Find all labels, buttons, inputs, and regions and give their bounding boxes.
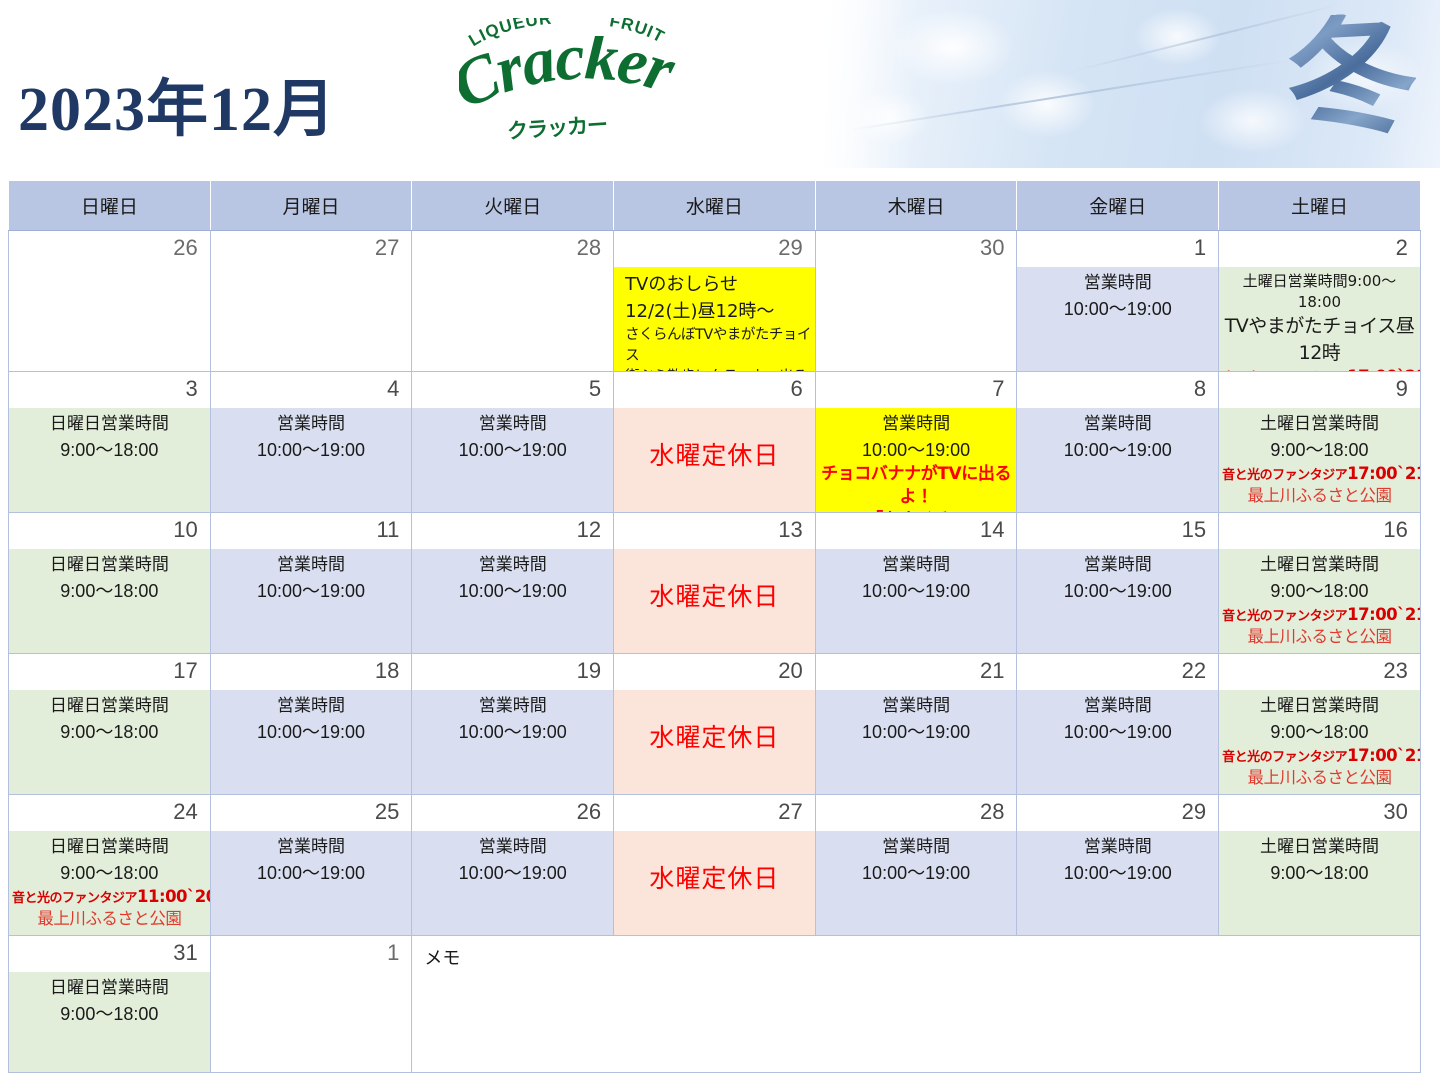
business-hours-value: 10:00～19:00 <box>1020 860 1215 886</box>
day-cell-inner: 25営業時間10:00～19:00 <box>211 795 412 935</box>
day-content: 営業時間10:00～19:00 <box>211 690 412 794</box>
day-content: 土曜日営業時間9:00～18:00音と光のファンタジア17:00ˋ21:00最上… <box>1219 549 1420 653</box>
day-cell-inner: 12営業時間10:00～19:00 <box>412 513 613 653</box>
fantasia-event-time: 17:00ˋ21:00 <box>1347 367 1420 371</box>
day-content: 営業時間10:00～19:00 <box>1017 267 1218 371</box>
calendar-week-row: 3日曜日営業時間9:00～18:004営業時間10:00～19:005営業時間1… <box>9 372 1421 513</box>
day-cell-inner: 7営業時間10:00～19:00チョコバナナがTVに出るよ！NHK「あさイチ」8… <box>816 372 1017 512</box>
day-number: 31 <box>9 936 210 972</box>
closed-day-label: 水曜定休日 <box>617 863 812 896</box>
day-number: 29 <box>614 231 815 267</box>
day-number: 28 <box>816 795 1017 831</box>
business-hours-value: 10:00～19:00 <box>214 860 409 886</box>
fantasia-event-label: 音と光のファンタジア <box>12 891 137 906</box>
day-number: 4 <box>211 372 412 408</box>
day-cell-inner: 14営業時間10:00～19:00 <box>816 513 1017 653</box>
business-hours-value: 10:00～19:00 <box>1020 437 1215 463</box>
calendar-day-cell[interactable]: 29営業時間10:00～19:00 <box>1017 795 1219 936</box>
day-content <box>211 972 412 1072</box>
business-hours-label: 営業時間 <box>1020 553 1215 578</box>
day-cell-inner: 13水曜定休日 <box>614 513 815 653</box>
calendar-week-row: 10日曜日営業時間9:00～18:0011営業時間10:00～19:0012営業… <box>9 513 1421 654</box>
day-cell-inner: 1営業時間10:00～19:00 <box>1017 231 1218 371</box>
day-content: 土曜日営業時間9:00～18:00TVやまがたチョイス昼12時音と光のファンタジ… <box>1219 267 1420 371</box>
tv-notice-datetime: 12/2(土)昼12時～ <box>617 298 812 325</box>
day-cell-inner: 16土曜日営業時間9:00～18:00音と光のファンタジア17:00ˋ21:00… <box>1219 513 1420 653</box>
business-hours-label: 土曜日営業時間 <box>1222 694 1417 719</box>
day-content: 水曜定休日 <box>614 549 815 653</box>
calendar-week-row: 24日曜日営業時間9:00～18:00音と光のファンタジア11:00ˋ20:00… <box>9 795 1421 936</box>
day-number: 6 <box>614 372 815 408</box>
calendar-day-cell[interactable]: 12営業時間10:00～19:00 <box>412 513 614 654</box>
day-cell-inner: 15営業時間10:00～19:00 <box>1017 513 1218 653</box>
business-hours-label: 日曜日営業時間 <box>12 835 207 860</box>
calendar-day-cell[interactable]: 22営業時間10:00～19:00 <box>1017 654 1219 795</box>
day-number: 27 <box>211 231 412 267</box>
tv-notice-program: さくらんぼTVやまがたチョイス <box>617 325 812 367</box>
calendar-day-cell[interactable]: 20水曜定休日 <box>614 654 816 795</box>
page-title: 2023年12月 <box>18 58 336 148</box>
saturday-hours-inline: 土曜日営業時間9:00～18:00 <box>1222 271 1417 313</box>
day-content: 営業時間10:00～19:00 <box>816 831 1017 935</box>
day-cell-inner: 6水曜定休日 <box>614 372 815 512</box>
business-hours-label: 土曜日営業時間 <box>1222 835 1417 860</box>
day-cell-inner: 29営業時間10:00～19:00 <box>1017 795 1218 935</box>
calendar-day-cell[interactable]: 16土曜日営業時間9:00～18:00音と光のファンタジア17:00ˋ21:00… <box>1219 513 1421 654</box>
day-number: 20 <box>614 654 815 690</box>
calendar-week-row: 31日曜日営業時間9:00～18:001メモ <box>9 936 1421 1073</box>
day-cell-inner: 30 <box>816 231 1017 371</box>
tv-appearance-notice-line2: NHK「あさイチ」8:15～ <box>819 509 1014 512</box>
fantasia-event-time: 17:00ˋ21:00 <box>1347 464 1420 483</box>
day-number: 30 <box>1219 795 1420 831</box>
business-hours-label: 土曜日営業時間 <box>1222 412 1417 437</box>
closed-day-label: 水曜定休日 <box>617 722 812 755</box>
day-number: 22 <box>1017 654 1218 690</box>
weekday-header-monday: 月曜日 <box>210 181 412 231</box>
weekday-header-saturday: 土曜日 <box>1219 181 1421 231</box>
calendar-day-cell[interactable]: 28営業時間10:00～19:00 <box>815 795 1017 936</box>
day-content: 土曜日営業時間9:00～18:00音と光のファンタジア17:00ˋ21:00最上… <box>1219 408 1420 512</box>
business-hours-value: 9:00～18:00 <box>1222 437 1417 463</box>
day-cell-inner: 28営業時間10:00～19:00 <box>816 795 1017 935</box>
day-number: 1 <box>211 936 412 972</box>
day-number: 5 <box>412 372 613 408</box>
business-hours-value: 10:00～19:00 <box>819 578 1014 604</box>
day-content <box>412 267 613 371</box>
day-content: 営業時間10:00～19:00 <box>816 549 1017 653</box>
calendar-day-cell[interactable]: 3日曜日営業時間9:00～18:00 <box>9 372 211 513</box>
day-content: 営業時間10:00～19:00 <box>1017 831 1218 935</box>
weekday-header-friday: 金曜日 <box>1017 181 1219 231</box>
business-hours-value: 9:00～18:00 <box>1222 719 1417 745</box>
fantasia-event-time: 11:00ˋ20:00 <box>137 887 210 906</box>
day-cell-inner: 30土曜日営業時間9:00～18:00 <box>1219 795 1420 935</box>
day-cell-inner: 17日曜日営業時間9:00～18:00 <box>9 654 210 794</box>
business-hours-value: 9:00～18:00 <box>12 1001 207 1027</box>
day-cell-inner: 10日曜日営業時間9:00～18:00 <box>9 513 210 653</box>
business-hours-value: 9:00～18:00 <box>1222 860 1417 886</box>
day-number: 9 <box>1219 372 1420 408</box>
day-content: 営業時間10:00～19:00 <box>1017 549 1218 653</box>
business-hours-label: 営業時間 <box>819 553 1014 578</box>
business-hours-label: 営業時間 <box>214 835 409 860</box>
day-cell-inner: 11営業時間10:00～19:00 <box>211 513 412 653</box>
day-number: 1 <box>1017 231 1218 267</box>
day-content: 営業時間10:00～19:00チョコバナナがTVに出るよ！NHK「あさイチ」8:… <box>816 408 1017 512</box>
business-hours-label: 営業時間 <box>819 835 1014 860</box>
logo-katakana: クラッカー <box>506 109 608 146</box>
brand-logo: LIQUEUR FRUIT Cracker クラッカー <box>455 8 685 158</box>
day-number: 21 <box>816 654 1017 690</box>
day-cell-inner: 18営業時間10:00～19:00 <box>211 654 412 794</box>
business-hours-value: 10:00～19:00 <box>214 437 409 463</box>
calendar-day-cell[interactable]: 27 <box>210 231 412 372</box>
tv-notice-detail: 街ぶら散歩にクラッカー出るよ <box>617 367 812 371</box>
saturday-tv-notice: TVやまがたチョイス昼12時 <box>1222 313 1417 366</box>
day-content: 土曜日営業時間9:00～18:00 <box>1219 831 1420 935</box>
calendar-day-cell[interactable]: 27水曜定休日 <box>614 795 816 936</box>
fantasia-event-venue: 最上川ふるさと公園 <box>12 908 207 930</box>
business-hours-value: 9:00～18:00 <box>1222 578 1417 604</box>
fantasia-event: 音と光のファンタジア11:00ˋ20:00 <box>12 886 207 908</box>
winter-banner-image: 冬 <box>815 0 1440 168</box>
calendar-day-cell[interactable]: 10日曜日営業時間9:00～18:00 <box>9 513 211 654</box>
business-hours-label: 営業時間 <box>214 694 409 719</box>
fantasia-event: 音と光のファンタジア17:00ˋ21:00 <box>1222 604 1417 626</box>
calendar-day-cell[interactable]: 28 <box>412 231 614 372</box>
day-cell-inner: 29TVのおしらせ12/2(土)昼12時～さくらんぼTVやまがたチョイス街ぶら散… <box>614 231 815 371</box>
tv-appearance-notice-line1: チョコバナナがTVに出るよ！ <box>819 463 1014 509</box>
day-cell-inner: 31日曜日営業時間9:00～18:00 <box>9 936 210 1072</box>
calendar-header-row: 日曜日 月曜日 火曜日 水曜日 木曜日 金曜日 土曜日 <box>9 181 1421 231</box>
fantasia-event-label: 音と光のファンタジア <box>1222 468 1347 483</box>
calendar-day-cell[interactable]: 13水曜定休日 <box>614 513 816 654</box>
fantasia-event-time: 17:00ˋ21:00 <box>1347 746 1420 765</box>
weekday-header-tuesday: 火曜日 <box>412 181 614 231</box>
business-hours-value: 10:00～19:00 <box>819 719 1014 745</box>
day-number: 11 <box>211 513 412 549</box>
day-number: 16 <box>1219 513 1420 549</box>
day-number: 13 <box>614 513 815 549</box>
day-content: 営業時間10:00～19:00 <box>412 831 613 935</box>
calendar-day-cell[interactable]: 8営業時間10:00～19:00 <box>1017 372 1219 513</box>
business-hours-value: 9:00～18:00 <box>12 719 207 745</box>
page-header: 2023年12月 LIQUEUR FRUIT Cracker クラッカー <box>0 0 1440 178</box>
day-content: 営業時間10:00～19:00 <box>1017 408 1218 512</box>
business-hours-value: 10:00～19:00 <box>1020 719 1215 745</box>
day-cell-inner: 28 <box>412 231 613 371</box>
day-content: 営業時間10:00～19:00 <box>412 690 613 794</box>
day-content <box>9 267 210 371</box>
day-cell-inner: 23土曜日営業時間9:00～18:00音と光のファンタジア17:00ˋ21:00… <box>1219 654 1420 794</box>
weekday-header-sunday: 日曜日 <box>9 181 211 231</box>
day-number: 12 <box>412 513 613 549</box>
day-number: 30 <box>816 231 1017 267</box>
business-hours-label: 営業時間 <box>819 694 1014 719</box>
calendar-day-cell[interactable]: 17日曜日営業時間9:00～18:00 <box>9 654 211 795</box>
day-number: 3 <box>9 372 210 408</box>
day-cell-inner: 27水曜定休日 <box>614 795 815 935</box>
day-content: 日曜日営業時間9:00～18:00 <box>9 972 210 1072</box>
day-number: 14 <box>816 513 1017 549</box>
calendar-day-cell[interactable]: 31日曜日営業時間9:00～18:00 <box>9 936 211 1073</box>
day-content: 営業時間10:00～19:00 <box>412 408 613 512</box>
day-number: 7 <box>816 372 1017 408</box>
day-content: 水曜定休日 <box>614 831 815 935</box>
business-hours-label: 日曜日営業時間 <box>12 694 207 719</box>
weekday-header-wednesday: 水曜日 <box>614 181 816 231</box>
day-cell-inner: 9土曜日営業時間9:00～18:00音と光のファンタジア17:00ˋ21:00最… <box>1219 372 1420 512</box>
day-cell-inner: 27 <box>211 231 412 371</box>
business-hours-label: 営業時間 <box>1020 835 1215 860</box>
calendar-day-cell[interactable]: 9土曜日営業時間9:00～18:00音と光のファンタジア17:00ˋ21:00最… <box>1219 372 1421 513</box>
day-number: 28 <box>412 231 613 267</box>
fantasia-event: 音と光のファンタジア17:00ˋ21:00 <box>1222 366 1417 371</box>
business-hours-label: 営業時間 <box>819 412 1014 437</box>
business-hours-label: 営業時間 <box>1020 694 1215 719</box>
business-hours-label: 土曜日営業時間 <box>1222 553 1417 578</box>
day-number: 17 <box>9 654 210 690</box>
memo-cell[interactable]: メモ <box>412 936 1420 1073</box>
day-number: 2 <box>1219 231 1420 267</box>
day-content <box>211 267 412 371</box>
calendar-day-cell[interactable]: 19営業時間10:00～19:00 <box>412 654 614 795</box>
calendar-day-cell[interactable]: 21営業時間10:00～19:00 <box>815 654 1017 795</box>
business-hours-value: 9:00～18:00 <box>12 437 207 463</box>
day-number: 23 <box>1219 654 1420 690</box>
day-number: 8 <box>1017 372 1218 408</box>
business-hours-value: 10:00～19:00 <box>819 437 1014 463</box>
calendar-week-row: 17日曜日営業時間9:00～18:0018営業時間10:00～19:0019営業… <box>9 654 1421 795</box>
calendar-day-cell[interactable]: 23土曜日営業時間9:00～18:00音と光のファンタジア17:00ˋ21:00… <box>1219 654 1421 795</box>
day-content: 営業時間10:00～19:00 <box>211 831 412 935</box>
calendar-day-cell[interactable]: 6水曜定休日 <box>614 372 816 513</box>
business-hours-value: 10:00～19:00 <box>1020 296 1215 322</box>
closed-day-label: 水曜定休日 <box>617 581 812 614</box>
closed-day-label: 水曜定休日 <box>617 440 812 473</box>
business-hours-label: 営業時間 <box>214 412 409 437</box>
calendar-day-cell[interactable]: 7営業時間10:00～19:00チョコバナナがTVに出るよ！NHK「あさイチ」8… <box>815 372 1017 513</box>
calendar-day-cell[interactable]: 24日曜日営業時間9:00～18:00音と光のファンタジア11:00ˋ20:00… <box>9 795 211 936</box>
day-content: 日曜日営業時間9:00～18:00 <box>9 690 210 794</box>
tv-notice-headline: TVのおしらせ <box>617 271 812 298</box>
fantasia-event: 音と光のファンタジア17:00ˋ21:00 <box>1222 463 1417 485</box>
business-hours-value: 10:00～19:00 <box>819 860 1014 886</box>
business-hours-label: 営業時間 <box>415 553 610 578</box>
calendar-day-cell[interactable]: 14営業時間10:00～19:00 <box>815 513 1017 654</box>
business-hours-label: 営業時間 <box>1020 412 1215 437</box>
calendar-day-cell[interactable]: 29TVのおしらせ12/2(土)昼12時～さくらんぼTVやまがたチョイス街ぶら散… <box>614 231 816 372</box>
day-cell-inner: 24日曜日営業時間9:00～18:00音と光のファンタジア11:00ˋ20:00… <box>9 795 210 935</box>
fantasia-event-label: 音と光のファンタジア <box>1222 750 1347 765</box>
day-content: 営業時間10:00～19:00 <box>816 690 1017 794</box>
day-number: 25 <box>211 795 412 831</box>
calendar-day-cell[interactable]: 15営業時間10:00～19:00 <box>1017 513 1219 654</box>
memo-label: メモ <box>412 936 1419 970</box>
day-number: 26 <box>9 231 210 267</box>
day-cell-inner: 3日曜日営業時間9:00～18:00 <box>9 372 210 512</box>
day-content: 営業時間10:00～19:00 <box>412 549 613 653</box>
calendar-day-cell[interactable]: 18営業時間10:00～19:00 <box>210 654 412 795</box>
day-cell-inner: 5営業時間10:00～19:00 <box>412 372 613 512</box>
day-content: 日曜日営業時間9:00～18:00音と光のファンタジア11:00ˋ20:00最上… <box>9 831 210 935</box>
business-hours-label: 日曜日営業時間 <box>12 412 207 437</box>
day-cell-inner: 4営業時間10:00～19:00 <box>211 372 412 512</box>
day-cell-inner: 26 <box>9 231 210 371</box>
fantasia-event: 音と光のファンタジア17:00ˋ21:00 <box>1222 745 1417 767</box>
business-hours-label: 営業時間 <box>214 553 409 578</box>
business-hours-label: 営業時間 <box>415 835 610 860</box>
calendar-week-row: 26272829TVのおしらせ12/2(土)昼12時～さくらんぼTVやまがたチョ… <box>9 231 1421 372</box>
day-cell-inner: 2土曜日営業時間9:00～18:00TVやまがたチョイス昼12時音と光のファンタ… <box>1219 231 1420 371</box>
business-hours-label: 日曜日営業時間 <box>12 976 207 1001</box>
day-cell-inner: 8営業時間10:00～19:00 <box>1017 372 1218 512</box>
calendar-day-cell[interactable]: 26 <box>9 231 211 372</box>
fantasia-event-label: 音と光のファンタジア <box>1222 609 1347 624</box>
day-content: 日曜日営業時間9:00～18:00 <box>9 408 210 512</box>
business-hours-label: 営業時間 <box>415 412 610 437</box>
calendar-day-cell[interactable]: 1 <box>210 936 412 1073</box>
fantasia-event-venue: 最上川ふるさと公園 <box>1222 626 1417 648</box>
day-content: 土曜日営業時間9:00～18:00音と光のファンタジア17:00ˋ21:00最上… <box>1219 690 1420 794</box>
day-content: 営業時間10:00～19:00 <box>1017 690 1218 794</box>
calendar-day-cell[interactable]: 30 <box>815 231 1017 372</box>
business-hours-value: 9:00～18:00 <box>12 578 207 604</box>
calendar-day-cell[interactable]: 5営業時間10:00～19:00 <box>412 372 614 513</box>
calendar-day-cell[interactable]: 2土曜日営業時間9:00～18:00TVやまがたチョイス昼12時音と光のファンタ… <box>1219 231 1421 372</box>
business-hours-value: 10:00～19:00 <box>415 719 610 745</box>
day-number: 10 <box>9 513 210 549</box>
day-content: 営業時間10:00～19:00 <box>211 549 412 653</box>
calendar-body: 26272829TVのおしらせ12/2(土)昼12時～さくらんぼTVやまがたチョ… <box>9 231 1421 1073</box>
fantasia-event-venue: 最上川ふるさと公園 <box>1222 485 1417 507</box>
calendar-day-cell[interactable]: 25営業時間10:00～19:00 <box>210 795 412 936</box>
day-content: 水曜定休日 <box>614 690 815 794</box>
day-number: 15 <box>1017 513 1218 549</box>
business-hours-value: 10:00～19:00 <box>415 437 610 463</box>
business-hours-label: 営業時間 <box>1020 271 1215 296</box>
day-number: 26 <box>412 795 613 831</box>
business-hours-label: 営業時間 <box>415 694 610 719</box>
calendar-day-cell[interactable]: 1営業時間10:00～19:00 <box>1017 231 1219 372</box>
business-hours-value: 10:00～19:00 <box>214 578 409 604</box>
business-hours-value: 10:00～19:00 <box>415 578 610 604</box>
day-cell-inner: 21営業時間10:00～19:00 <box>816 654 1017 794</box>
fantasia-event-venue: 最上川ふるさと公園 <box>1222 767 1417 789</box>
day-cell-inner: 20水曜定休日 <box>614 654 815 794</box>
calendar-day-cell[interactable]: 30土曜日営業時間9:00～18:00 <box>1219 795 1421 936</box>
day-number: 29 <box>1017 795 1218 831</box>
fantasia-event-time: 17:00ˋ21:00 <box>1347 605 1420 624</box>
day-number: 19 <box>412 654 613 690</box>
day-cell-inner: 26営業時間10:00～19:00 <box>412 795 613 935</box>
day-number: 24 <box>9 795 210 831</box>
winter-kanji-text: 冬 <box>1285 11 1420 146</box>
business-hours-value: 9:00～18:00 <box>12 860 207 886</box>
calendar-day-cell[interactable]: 11営業時間10:00～19:00 <box>210 513 412 654</box>
business-hours-value: 10:00～19:00 <box>214 719 409 745</box>
day-content <box>816 267 1017 371</box>
day-cell-inner: 22営業時間10:00～19:00 <box>1017 654 1218 794</box>
calendar-day-cell[interactable]: 26営業時間10:00～19:00 <box>412 795 614 936</box>
day-content: 日曜日営業時間9:00～18:00 <box>9 549 210 653</box>
business-hours-value: 10:00～19:00 <box>415 860 610 886</box>
day-content: 水曜定休日 <box>614 408 815 512</box>
monthly-calendar-table: 日曜日 月曜日 火曜日 水曜日 木曜日 金曜日 土曜日 26272829TVのお… <box>8 180 1421 1073</box>
business-hours-label: 日曜日営業時間 <box>12 553 207 578</box>
day-number: 27 <box>614 795 815 831</box>
day-cell-inner: 1 <box>211 936 412 1072</box>
day-content: TVのおしらせ12/2(土)昼12時～さくらんぼTVやまがたチョイス街ぶら散歩に… <box>614 267 815 371</box>
business-hours-value: 10:00～19:00 <box>1020 578 1215 604</box>
day-content: 営業時間10:00～19:00 <box>211 408 412 512</box>
calendar-day-cell[interactable]: 4営業時間10:00～19:00 <box>210 372 412 513</box>
weekday-header-thursday: 木曜日 <box>815 181 1017 231</box>
day-cell-inner: 19営業時間10:00～19:00 <box>412 654 613 794</box>
day-number: 18 <box>211 654 412 690</box>
